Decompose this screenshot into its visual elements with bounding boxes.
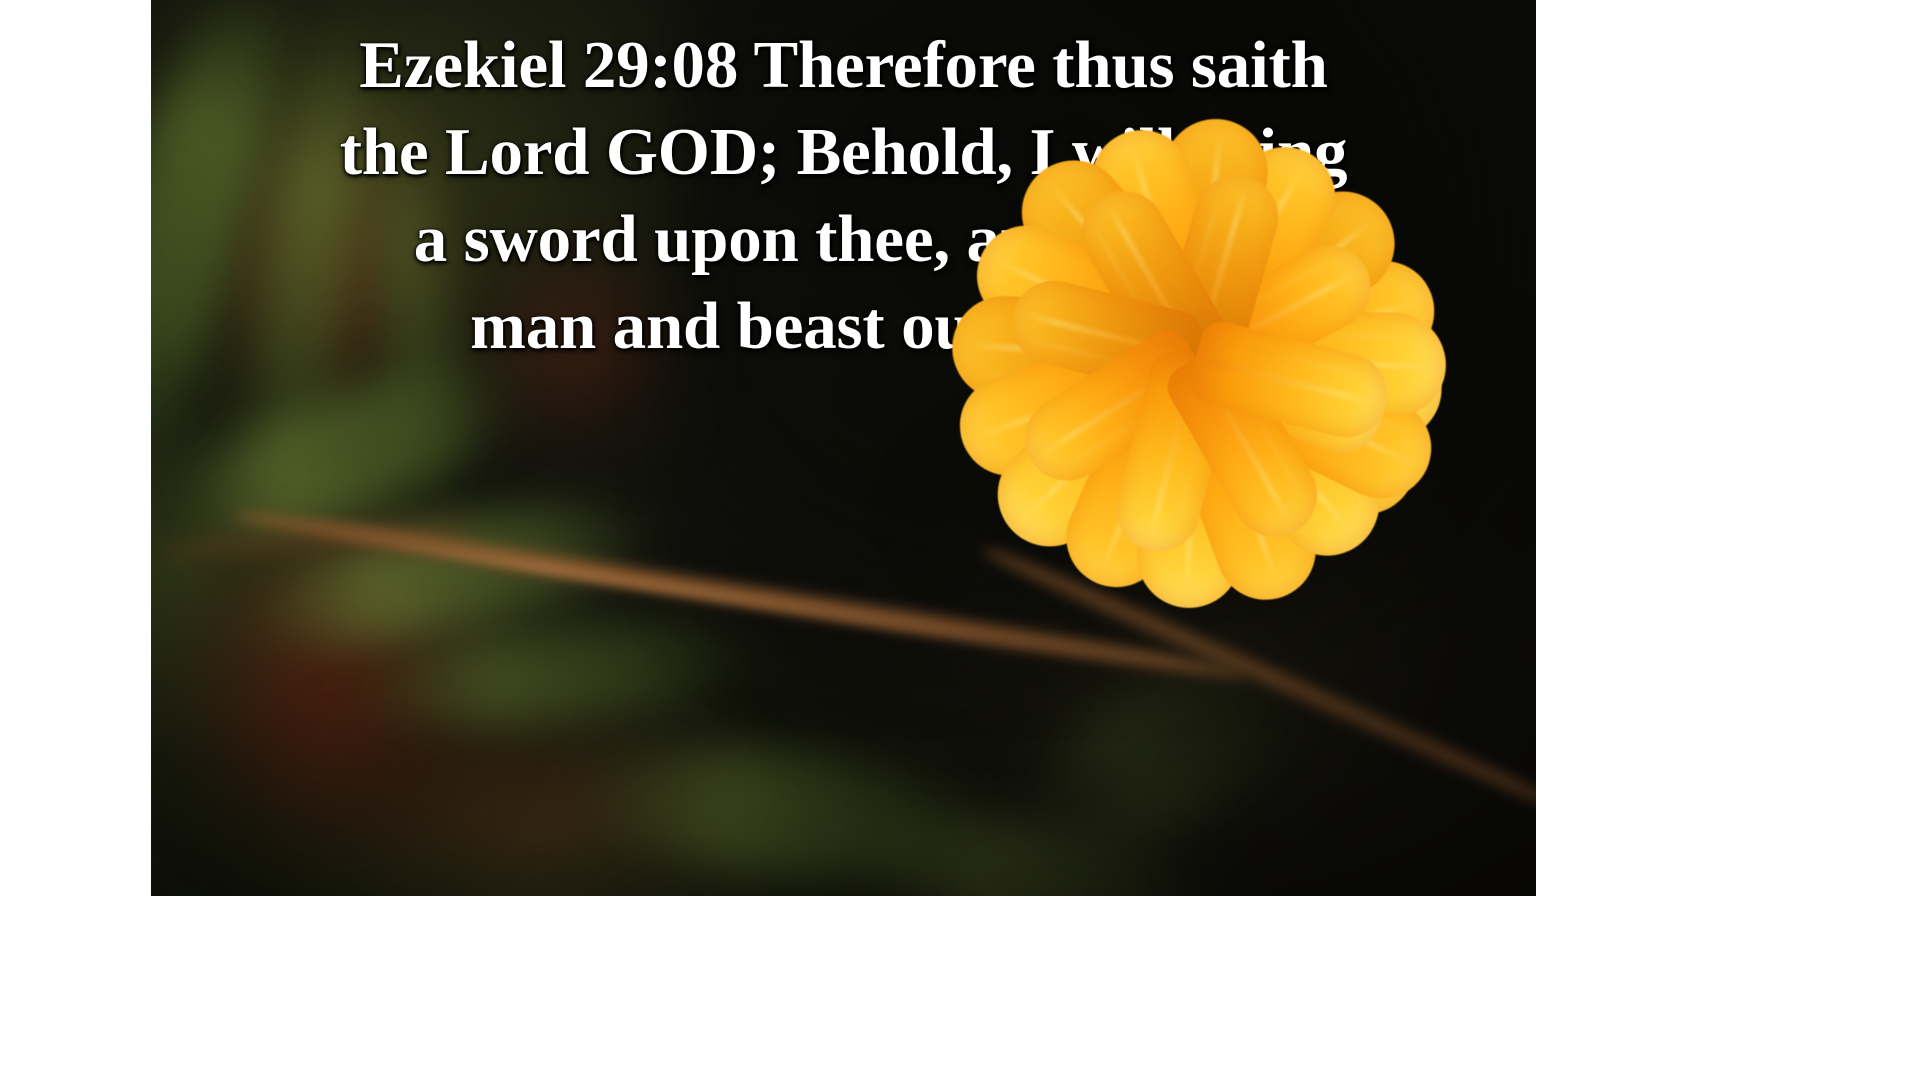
- verse-image-card: Ezekiel 29:08 Therefore thus saith the L…: [151, 0, 1536, 896]
- page-canvas: Ezekiel 29:08 Therefore thus saith the L…: [0, 0, 1920, 1080]
